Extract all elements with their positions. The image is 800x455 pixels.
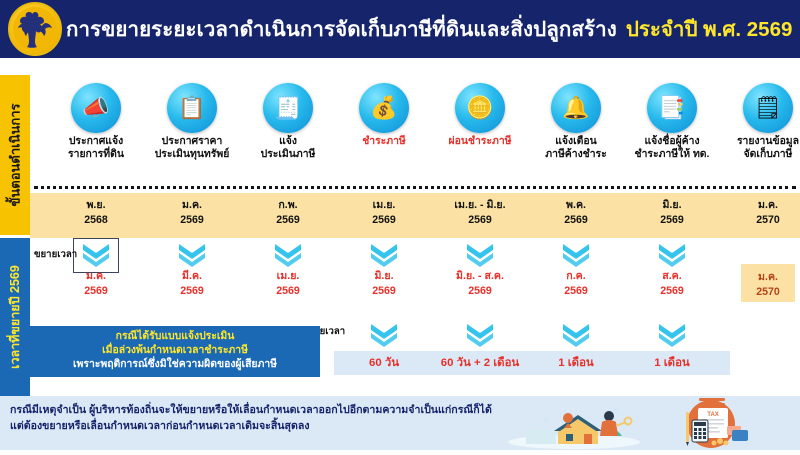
extension-date-3: เม.ย.2569	[240, 269, 336, 298]
megaphone-icon: 📣	[71, 83, 121, 133]
process-date-month: เม.ย. - มิ.ย.	[432, 198, 528, 213]
extension-date-year: 2569	[336, 284, 432, 299]
tax-list-icon: 📑	[647, 83, 697, 133]
process-date-year: 2569	[528, 213, 624, 228]
report-icon: 🗒	[743, 83, 793, 133]
extension-date-month: ก.ค.	[528, 269, 624, 284]
process-step-label-line1: แจ้งเตือน	[528, 136, 624, 149]
extension-area: ม.ค.2569มี.ค.2569เม.ย.2569มิ.ย.2569มิ.ย.…	[30, 238, 800, 396]
process-step-label-line2: ชำระภาษีให้ ทด.	[624, 149, 720, 162]
extension-date-year: 2569	[624, 284, 720, 299]
process-step-2[interactable]: 📋ประกาศราคาประเมินทุนทรัพย์	[144, 75, 240, 161]
duration-value-3: 1 เดือน	[521, 353, 631, 373]
band-extend-label: เวลาที่ขยายปี 2569	[5, 265, 25, 369]
extension-date-8: ม.ค.2570	[741, 264, 795, 302]
extension-date-7: ส.ค.2569	[624, 269, 720, 298]
process-step-label-line2: ประเมินภาษี	[240, 149, 336, 162]
process-step-1[interactable]: 📣ประกาศแจ้งรายการที่ดิน	[48, 75, 144, 161]
process-date-year: 2568	[48, 213, 144, 228]
extension-chevron-top-3	[273, 242, 303, 268]
process-step-label-line1: ชำระภาษี	[336, 136, 432, 149]
process-date-month: พ.ย.	[48, 198, 144, 213]
assessment-note-box: กรณีได้รับแบบแจ้งประเมิน เมื่อล่วงพ้นกำห…	[30, 326, 320, 377]
extension-date-year: 2570	[741, 285, 795, 300]
extension-date-year: 2569	[144, 284, 240, 299]
process-step-5[interactable]: 🪙ผ่อนชำระภาษี	[432, 75, 528, 149]
process-date-year: 2569	[144, 213, 240, 228]
extension-date-month: ม.ค.	[48, 269, 144, 284]
process-step-label-line1: แจ้งชื่อผู้ค้าง	[624, 136, 720, 149]
process-date-1: พ.ย.2568	[48, 193, 144, 228]
process-date-month: พ.ค.	[528, 198, 624, 213]
extension-chevron-bottom-7	[657, 322, 687, 348]
tax-document-calculator-illustration: TAX	[686, 398, 748, 448]
process-date-month: เม.ย.	[336, 198, 432, 213]
extension-chevron-top-4	[369, 242, 399, 268]
process-step-label-line2: ประเมินทุนทรัพย์	[144, 149, 240, 162]
process-date-year: 2569	[432, 213, 528, 228]
garuda-emblem	[8, 2, 62, 56]
svg-text:TAX: TAX	[707, 412, 719, 418]
process-date-3: ก.พ.2569	[240, 193, 336, 228]
process-step-8[interactable]: 🗒รายงานข้อมูลจัดเก็บภาษี	[720, 75, 800, 161]
band-extension-time: เวลาที่ขยายปี 2569	[0, 238, 30, 396]
note-line-3: เพราะพฤติการณ์ซึ่งมิใช่ความผิดของผู้เสีย…	[36, 358, 314, 372]
page-footer: กรณีมีเหตุจำเป็น ผู้บริหารท้องถิ่นจะให้ข…	[0, 396, 800, 450]
note-line-2: เมื่อล่วงพ้นกำหนดเวลาชำระภาษี	[36, 344, 314, 358]
process-step-label-line1: ประกาศราคา	[144, 136, 240, 149]
footer-note: กรณีมีเหตุจำเป็น ผู้บริหารท้องถิ่นจะให้ข…	[10, 402, 510, 434]
extension-chevron-top-5	[465, 242, 495, 268]
process-date-8: ม.ค.2570	[720, 193, 800, 228]
extension-chevron-top-7	[657, 242, 687, 268]
process-date-6: พ.ค.2569	[528, 193, 624, 228]
process-date-7: มิ.ย.2569	[624, 193, 720, 228]
coin-drop-icon: 🪙	[455, 83, 505, 133]
extension-date-year: 2569	[48, 284, 144, 299]
extension-chevron-bottom-5	[465, 322, 495, 348]
process-date-month: ม.ค.	[720, 198, 800, 213]
tax-invoice-icon: 🧾	[263, 83, 313, 133]
extension-date-month: มิ.ย.	[336, 269, 432, 284]
process-step-6[interactable]: 🔔แจ้งเตือนภาษีค้างชำระ	[528, 75, 624, 161]
process-date-month: มิ.ย.	[624, 198, 720, 213]
process-date-2: ม.ค.2569	[144, 193, 240, 228]
extension-date-month: ม.ค.	[741, 270, 795, 285]
note-line-1: กรณีได้รับแบบแจ้งประเมิน	[36, 330, 314, 344]
extension-date-4: มิ.ย.2569	[336, 269, 432, 298]
process-step-label-line1: ผ่อนชำระภาษี	[432, 136, 528, 149]
process-step-label-line1: ประกาศแจ้ง	[48, 136, 144, 149]
extension-date-month: มี.ค.	[144, 269, 240, 284]
title-main-text: การขยายระยะเวลาดำเนินการจัดเก็บภาษีที่ดิ…	[66, 13, 617, 46]
duration-value-2: 60 วัน + 2 เดือน	[425, 353, 535, 373]
title-year-text: ประจำปี พ.ศ. 2569	[626, 13, 792, 46]
extension-date-month: ส.ค.	[624, 269, 720, 284]
extension-date-year: 2569	[432, 284, 528, 299]
extension-date-2: มี.ค.2569	[144, 269, 240, 298]
duration-value-4: 1 เดือน	[617, 353, 727, 373]
process-step-label-line1: รายงานข้อมูล	[720, 136, 800, 149]
money-hand-icon: 💰	[359, 83, 409, 133]
process-date-5: เม.ย. - มิ.ย.2569	[432, 193, 528, 228]
extension-date-1: ม.ค.2569	[48, 269, 144, 298]
process-step-label-line1: แจ้ง	[240, 136, 336, 149]
duration-value-1: 60 วัน	[329, 353, 439, 373]
process-date-month: ก.พ.	[240, 198, 336, 213]
process-step-strip: 📣ประกาศแจ้งรายการที่ดิน📋ประกาศราคาประเมิ…	[30, 75, 800, 193]
house-inspection-illustration	[508, 408, 640, 449]
process-date-month: ม.ค.	[144, 198, 240, 213]
process-step-7[interactable]: 📑แจ้งชื่อผู้ค้างชำระภาษีให้ ทด.	[624, 75, 720, 161]
extension-date-month: มิ.ย. - ส.ค.	[432, 269, 528, 284]
timeline-dotted-connector	[34, 186, 796, 189]
process-step-label-line2: จัดเก็บภาษี	[720, 149, 800, 162]
process-date-year: 2569	[624, 213, 720, 228]
extension-date-month: เม.ย.	[240, 269, 336, 284]
extension-date-year: 2569	[528, 284, 624, 299]
process-date-year: 2569	[240, 213, 336, 228]
page-title: การขยายระยะเวลาดำเนินการจัดเก็บภาษีที่ดิ…	[66, 0, 792, 58]
process-step-4[interactable]: 💰ชำระภาษี	[336, 75, 432, 149]
extension-chevron-bottom-6	[561, 322, 591, 348]
page-header: การขยายระยะเวลาดำเนินการจัดเก็บภาษีที่ดิ…	[0, 0, 800, 58]
process-step-label-line2: ภาษีค้างชำระ	[528, 149, 624, 162]
extension-chevron-bottom-4	[369, 322, 399, 348]
process-step-3[interactable]: 🧾แจ้งประเมินภาษี	[240, 75, 336, 161]
extension-date-year: 2569	[240, 284, 336, 299]
extension-highlight-box	[73, 238, 119, 273]
band-process-steps: ขั้นตอนดำเนินการ	[0, 75, 30, 235]
clipboard-check-icon: 📋	[167, 83, 217, 133]
bell-alert-icon: 🔔	[551, 83, 601, 133]
extension-date-6: ก.ค.2569	[528, 269, 624, 298]
process-date-year: 2569	[336, 213, 432, 228]
extension-date-5: มิ.ย. - ส.ค.2569	[432, 269, 528, 298]
extension-chevron-top-6	[561, 242, 591, 268]
extension-chevron-top-2	[177, 242, 207, 268]
footer-illustrations: TAX	[496, 396, 796, 450]
footer-line-1: กรณีมีเหตุจำเป็น ผู้บริหารท้องถิ่นจะให้ข…	[10, 402, 510, 418]
process-date-4: เม.ย.2569	[336, 193, 432, 228]
extension-label-row1: ขยายเวลา	[34, 247, 77, 262]
band-process-label: ขั้นตอนดำเนินการ	[5, 103, 26, 206]
footer-line-2: แต่ต้องขยายหรือเลื่อนกำหนดเวลาก่อนกำหนดเ…	[10, 418, 510, 434]
process-date-year: 2570	[720, 213, 800, 228]
process-step-label-line2: รายการที่ดิน	[48, 149, 144, 162]
process-date-strip: พ.ย.2568ม.ค.2569ก.พ.2569เม.ย.2569เม.ย. -…	[30, 193, 800, 238]
